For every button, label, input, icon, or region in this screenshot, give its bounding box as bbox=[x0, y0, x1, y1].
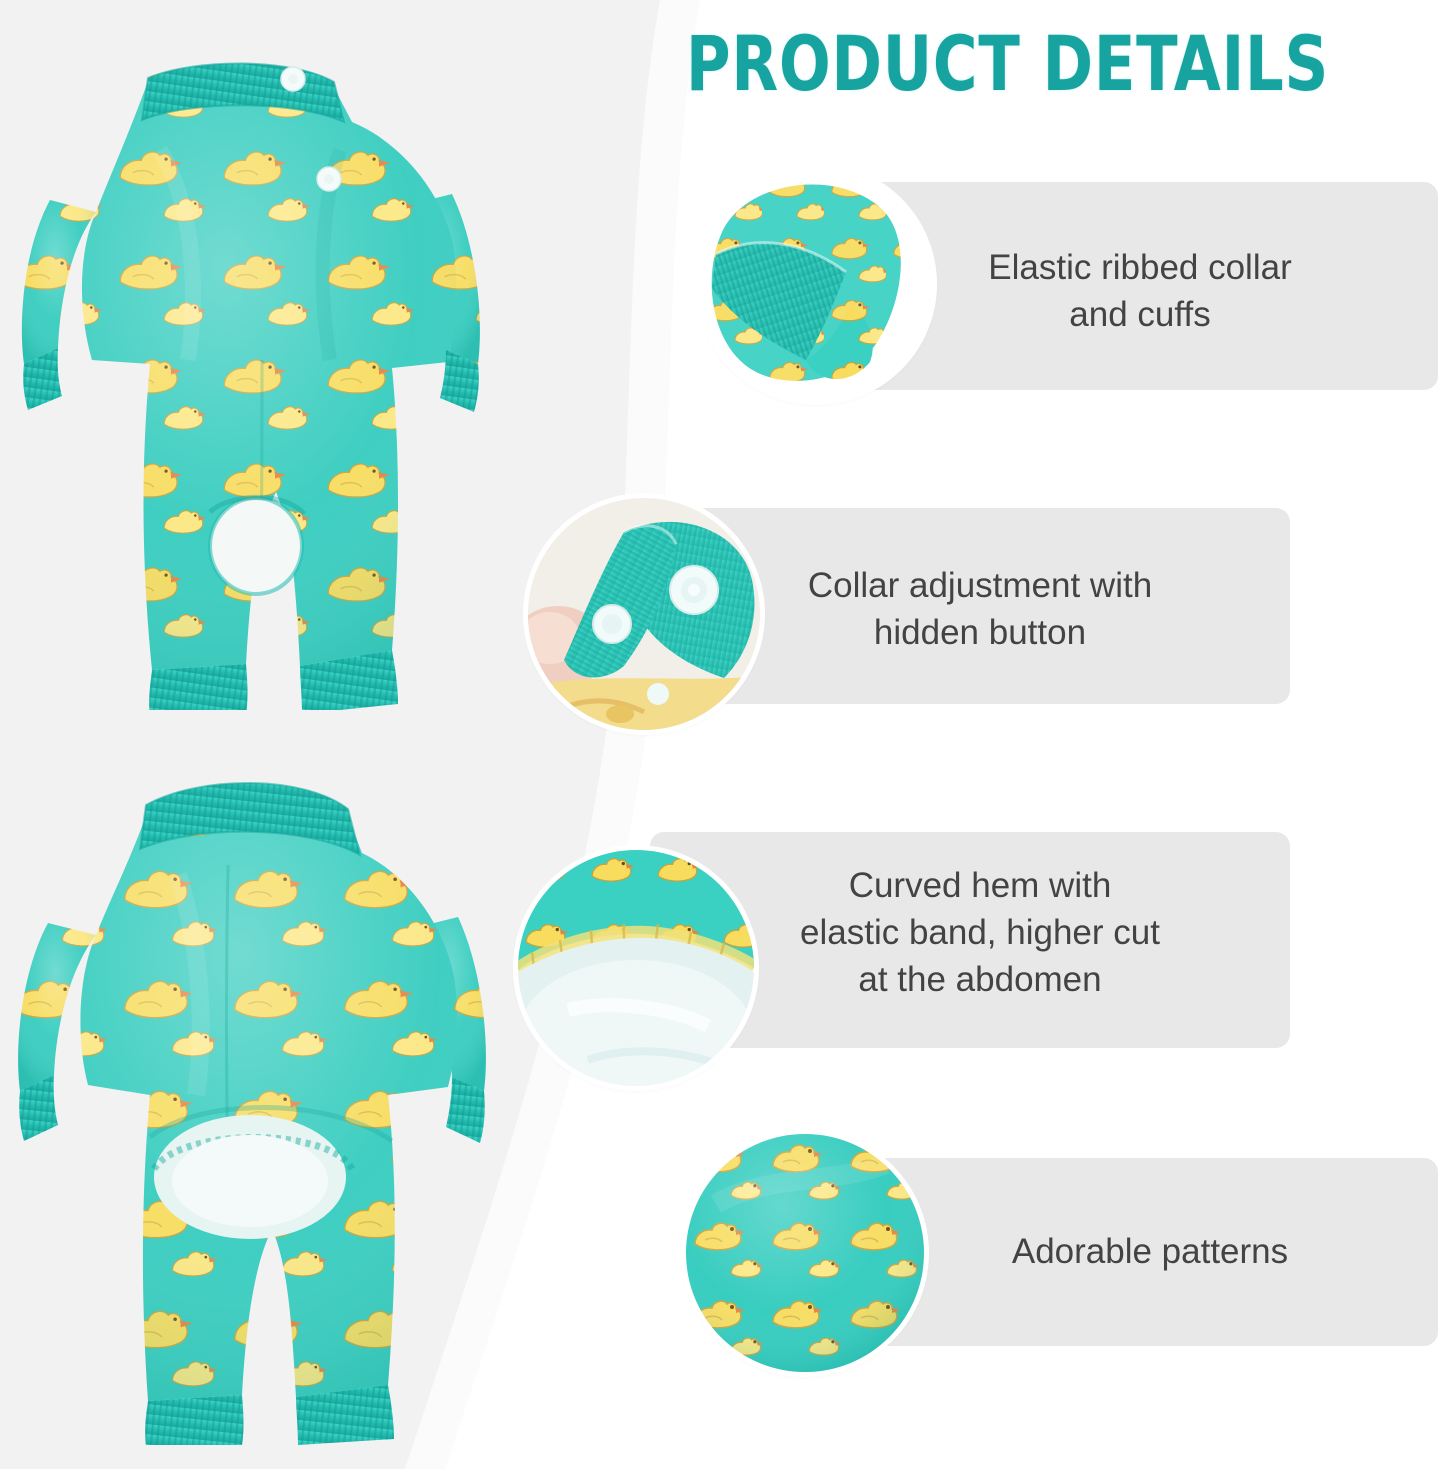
feature-row-adorable-patterns: Adorable patterns bbox=[0, 0, 1445, 1]
feature-label-line: and cuffs bbox=[880, 291, 1400, 338]
photo-curved-elastic-hem bbox=[518, 850, 754, 1086]
feature-label-text: Collar adjustment with hidden button bbox=[700, 562, 1260, 656]
pajama-belly-view bbox=[0, 745, 500, 1445]
feature-label-text: Elastic ribbed collar and cuffs bbox=[880, 244, 1400, 338]
photo-collar-snap-button bbox=[528, 498, 760, 730]
feature-label-line: Adorable patterns bbox=[900, 1228, 1400, 1275]
page-title: PRODUCT DETAILS bbox=[686, 18, 1294, 110]
feature-label-text: Curved hem with elastic band, higher cut… bbox=[700, 862, 1260, 1003]
feature-label-line: Elastic ribbed collar bbox=[880, 244, 1400, 291]
feature-label-line: Curved hem with bbox=[700, 862, 1260, 909]
feature-label-line: hidden button bbox=[700, 609, 1260, 656]
feature-label-line: elastic band, higher cut bbox=[700, 909, 1260, 956]
feature-label-line: Collar adjustment with bbox=[700, 562, 1260, 609]
photo-duck-pattern bbox=[686, 1134, 924, 1372]
pajama-top-view bbox=[0, 30, 500, 710]
photo-ribbed-cuff bbox=[700, 168, 932, 400]
product-details-infographic: PRODUCT DETAILS bbox=[0, 0, 1445, 1469]
feature-label-text: Adorable patterns bbox=[900, 1228, 1400, 1275]
feature-label-line: at the abdomen bbox=[700, 956, 1260, 1003]
